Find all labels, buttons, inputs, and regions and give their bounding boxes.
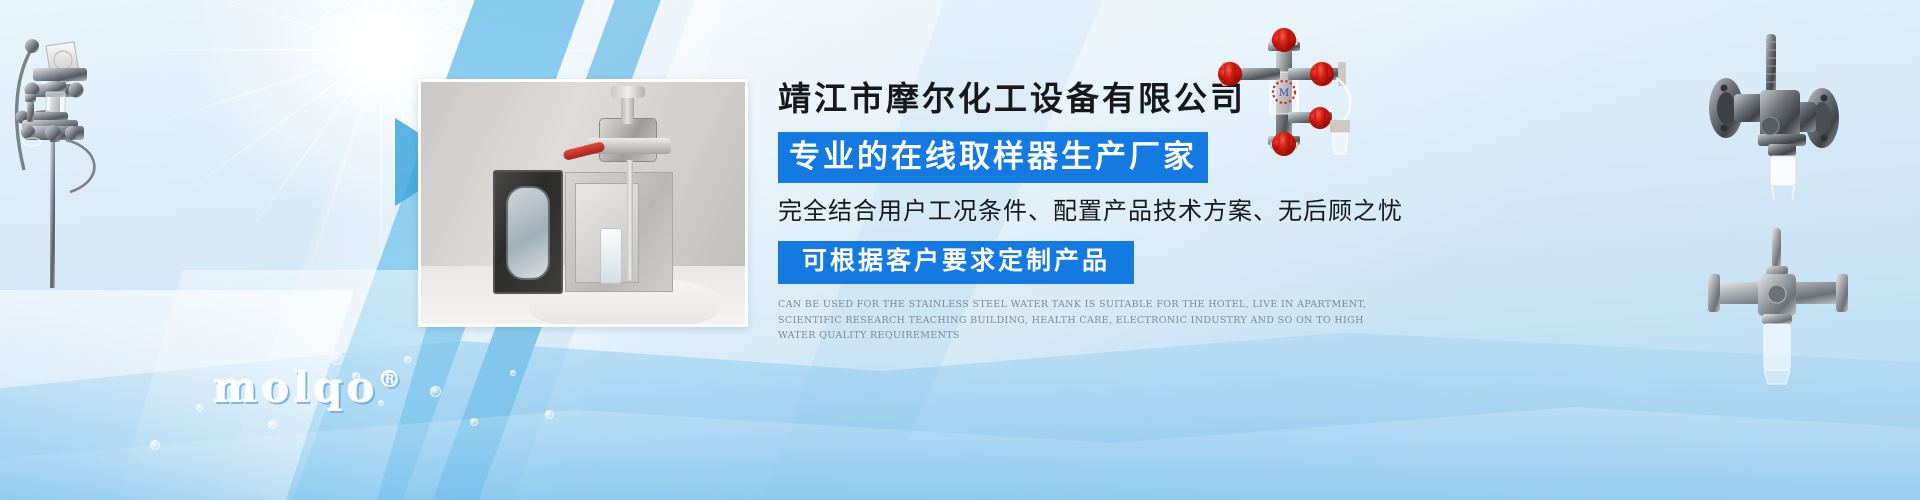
inline-sampler-equipment-illustration bbox=[1700, 222, 1870, 392]
registered-mark-icon: ® bbox=[379, 367, 401, 393]
english-blurb: CAN BE USED FOR THE STAINLESS STEEL WATE… bbox=[778, 297, 1378, 343]
watermark-text: molqo bbox=[213, 363, 379, 412]
promo-banner: molqo® bbox=[0, 0, 1920, 500]
headline-highlight: 专业的在线取样器生产厂家 bbox=[778, 132, 1208, 183]
svg-text:M: M bbox=[1279, 88, 1289, 99]
tagline-highlight: 可根据客户要求定制产品 bbox=[778, 241, 1134, 284]
left-equipment-illustration bbox=[8, 20, 188, 290]
watermark-logo: molqo® bbox=[213, 363, 401, 412]
product-photo bbox=[418, 79, 748, 327]
cross-valve-equipment-illustration: M bbox=[1208, 28, 1378, 158]
lever-valve-equipment-illustration bbox=[1700, 30, 1850, 210]
sub-line: 完全结合用户工况条件、配置产品技术方案、无后顾之忧 bbox=[778, 197, 1398, 227]
